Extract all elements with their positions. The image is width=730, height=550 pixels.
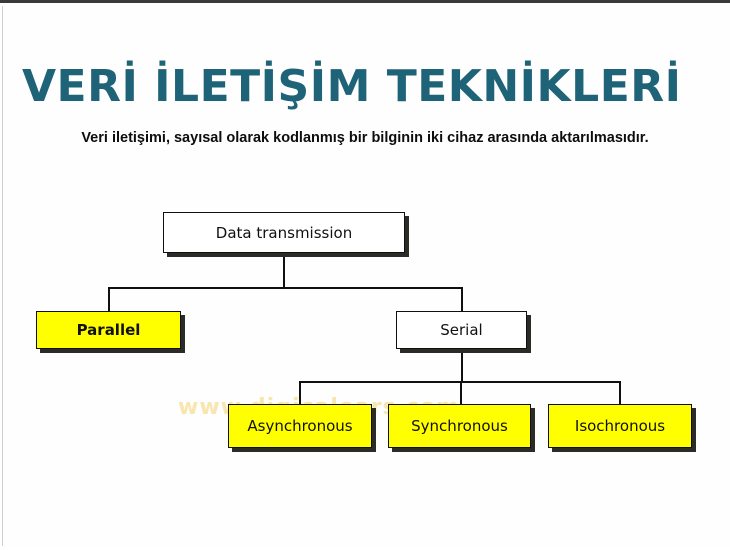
slide-canvas: VERİ İLETİŞİM TEKNİKLERİ Veri iletişimi,…: [0, 0, 730, 547]
node-parallel[interactable]: Parallel: [36, 311, 181, 349]
node-synchronous[interactable]: Synchronous: [388, 404, 531, 448]
node-data-transmission[interactable]: Data transmission: [163, 212, 405, 253]
connector-to-parallel: [108, 287, 110, 312]
connector-to-serial: [461, 287, 463, 312]
connector-level1-bar: [108, 287, 463, 289]
connector-to-isochronous: [619, 381, 621, 405]
node-asynchronous[interactable]: Asynchronous: [228, 404, 372, 448]
connector-root-stem: [283, 253, 285, 287]
connector-serial-stem: [461, 348, 463, 381]
connector-to-synchronous: [460, 381, 462, 405]
connector-to-asynchronous: [299, 381, 301, 405]
node-isochronous[interactable]: Isochronous: [548, 404, 692, 448]
node-serial[interactable]: Serial: [396, 311, 527, 349]
data-transmission-tree-diagram: Data transmission Parallel Serial Asynch…: [0, 3, 730, 550]
